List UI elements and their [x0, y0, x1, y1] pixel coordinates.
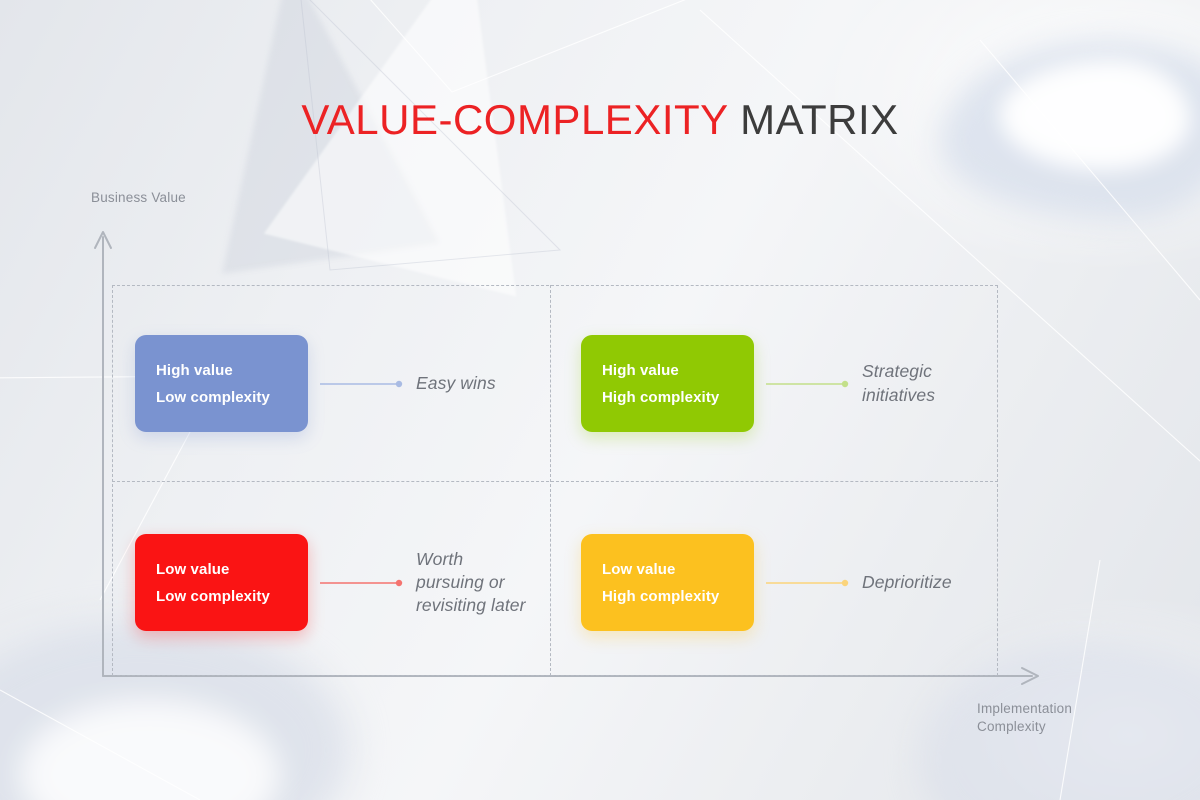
- slide-canvas: VALUE-COMPLEXITY MATRIX Business Value I…: [0, 0, 1200, 800]
- x-axis-label: Implementation Complexity: [977, 700, 1127, 736]
- background-triangle-light: [264, 0, 596, 297]
- page-title: VALUE-COMPLEXITY MATRIX: [0, 96, 1200, 144]
- card-value-line: High value: [156, 362, 308, 379]
- quadrant-outcome-label: Strategic initiatives: [862, 360, 935, 406]
- card-complexity-line: Low complexity: [156, 588, 308, 605]
- title-accent: VALUE-COMPLEXITY: [301, 96, 728, 143]
- title-plain: MATRIX: [728, 96, 899, 143]
- card-complexity-line: High complexity: [602, 389, 754, 406]
- background-blob-bottom-left-highlight: [20, 700, 280, 800]
- quadrant-outcome-label: Easy wins: [416, 372, 496, 395]
- quadrant-outcome-label: Deprioritize: [862, 571, 952, 594]
- quadrant-outcome-label: Worth pursuing or revisiting later: [416, 548, 526, 617]
- x-axis-arrowhead: [1022, 668, 1038, 684]
- quadrant-low-value-high-complexity[interactable]: Low value High complexity Deprioritize: [581, 534, 952, 631]
- card-value-line: Low value: [602, 561, 754, 578]
- connector-arrow: [308, 577, 416, 589]
- quadrant-card[interactable]: Low value High complexity: [581, 534, 754, 631]
- quadrant-card[interactable]: High value Low complexity: [135, 335, 308, 432]
- card-complexity-line: High complexity: [602, 588, 754, 605]
- quadrant-high-value-high-complexity[interactable]: High value High complexity Strategic ini…: [581, 335, 935, 432]
- quadrant-low-value-low-complexity[interactable]: Low value Low complexity Worth pursuing …: [135, 534, 526, 631]
- card-value-line: High value: [602, 362, 754, 379]
- y-axis-arrowhead: [95, 232, 111, 248]
- y-axis-label: Business Value: [91, 189, 186, 207]
- quadrant-card[interactable]: High value High complexity: [581, 335, 754, 432]
- quadrant-high-value-low-complexity[interactable]: High value Low complexity Easy wins: [135, 335, 496, 432]
- connector-arrow: [754, 577, 862, 589]
- quadrant-card[interactable]: Low value Low complexity: [135, 534, 308, 631]
- card-value-line: Low value: [156, 561, 308, 578]
- connector-arrow: [308, 378, 416, 390]
- card-complexity-line: Low complexity: [156, 389, 308, 406]
- quadrant-grid-horizontal-divider: [112, 481, 998, 482]
- connector-arrow: [754, 378, 862, 390]
